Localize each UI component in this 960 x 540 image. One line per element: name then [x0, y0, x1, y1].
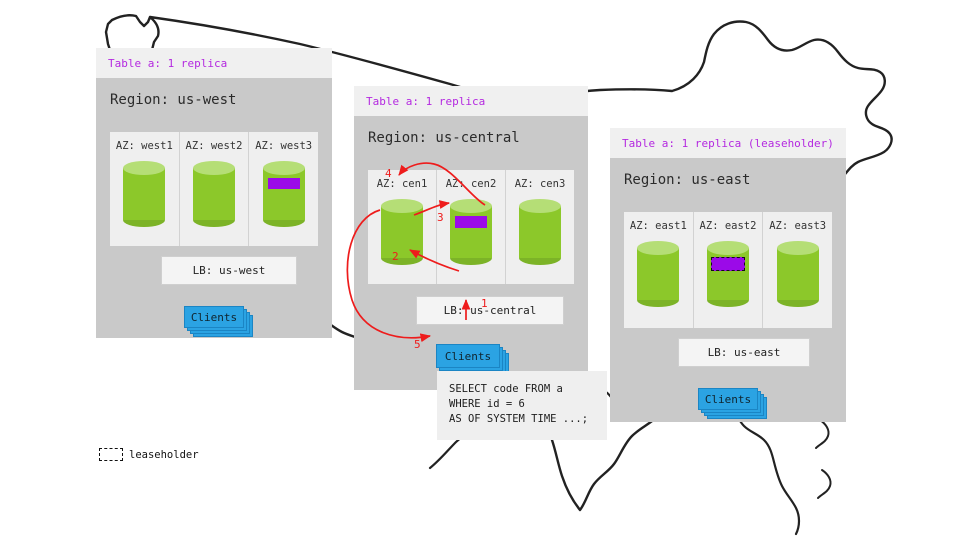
clients-stack-us-east[interactable]: Clients: [698, 388, 764, 418]
step-number-5: 5: [414, 338, 421, 351]
az-strip-us-central: AZ: cen1 AZ: cen2: [368, 170, 574, 284]
lb-box-us-east[interactable]: LB: us-east: [678, 338, 810, 367]
lb-box-us-central[interactable]: LB: us-central: [416, 296, 564, 325]
az-strip-us-west: AZ: west1 AZ: west2 AZ: [110, 132, 318, 246]
region-panel-us-central[interactable]: Table a: 1 replica Region: us-central AZ…: [354, 86, 588, 390]
cylinder-top: [123, 161, 165, 175]
cylinder-top: [193, 161, 235, 175]
cylinder-west2: [193, 161, 235, 227]
cylinder-top: [777, 241, 819, 255]
az-cell-east1[interactable]: AZ: east1: [624, 212, 694, 328]
az-cell-cen3[interactable]: AZ: cen3: [506, 170, 574, 284]
az-label-east2: AZ: east2: [700, 220, 757, 232]
az-cell-west3[interactable]: AZ: west3: [249, 132, 318, 246]
az-cell-east2[interactable]: AZ: east2: [694, 212, 764, 328]
az-cell-west1[interactable]: AZ: west1: [110, 132, 180, 246]
step-number-2: 2: [392, 250, 399, 263]
cylinder-cen1: [381, 199, 423, 265]
cylinder-top: [707, 241, 749, 255]
az-label-west1: AZ: west1: [116, 140, 173, 152]
step-number-1: 1: [481, 297, 488, 310]
clients-label-us-west[interactable]: Clients: [184, 306, 244, 328]
region-title-us-east: Region: us-east: [624, 172, 834, 188]
az-label-cen2: AZ: cen2: [446, 178, 497, 190]
cylinder-body: [381, 206, 423, 258]
panel-header-us-west: Table a: 1 replica: [96, 48, 332, 78]
cylinder-body: [637, 248, 679, 300]
region-title-us-central: Region: us-central: [368, 130, 576, 146]
cylinder-body: [450, 206, 492, 258]
lb-box-us-west[interactable]: LB: us-west: [161, 256, 297, 285]
dashed-rect-icon: [99, 448, 123, 461]
clients-label-us-central[interactable]: Clients: [436, 344, 500, 368]
cylinder-body: [193, 168, 235, 220]
az-label-west2: AZ: west2: [186, 140, 243, 152]
replica-marker-cen2: [455, 216, 487, 228]
az-cell-cen2[interactable]: AZ: cen2: [437, 170, 506, 284]
cylinder-body: [777, 248, 819, 300]
cylinder-east2: [707, 241, 749, 307]
cylinder-top: [637, 241, 679, 255]
step-number-4: 4: [385, 167, 392, 180]
panel-header-us-central: Table a: 1 replica: [354, 86, 588, 116]
cylinder-top: [263, 161, 305, 175]
diagram-canvas: Table a: 1 replica Region: us-west AZ: w…: [0, 0, 960, 540]
cylinder-top: [519, 199, 561, 213]
region-title-us-west: Region: us-west: [110, 92, 320, 108]
panel-body-us-west: Region: us-west AZ: west1 AZ: west2: [96, 78, 332, 338]
clients-stack-us-west[interactable]: Clients: [184, 306, 250, 336]
legend-label: leaseholder: [129, 449, 199, 461]
cylinder-east3: [777, 241, 819, 307]
cylinder-body: [519, 206, 561, 258]
az-label-east3: AZ: east3: [769, 220, 826, 232]
replica-marker-east2-leaseholder: [711, 257, 745, 271]
cylinder-body: [123, 168, 165, 220]
replica-marker-west3: [268, 178, 300, 189]
panel-body-us-central: Region: us-central AZ: cen1 AZ: cen2: [354, 116, 588, 390]
cylinder-cen2: [450, 199, 492, 265]
legend-leaseholder: leaseholder: [99, 448, 199, 461]
clients-label-us-east[interactable]: Clients: [698, 388, 758, 410]
cylinder-top: [450, 199, 492, 213]
cylinder-cen3: [519, 199, 561, 265]
step-number-3: 3: [437, 211, 444, 224]
az-cell-west2[interactable]: AZ: west2: [180, 132, 250, 246]
cylinder-body: [263, 168, 305, 220]
region-panel-us-west[interactable]: Table a: 1 replica Region: us-west AZ: w…: [96, 48, 332, 338]
sql-query-box: SELECT code FROM a WHERE id = 6 AS OF SY…: [437, 371, 607, 440]
az-cell-east3[interactable]: AZ: east3: [763, 212, 832, 328]
panel-header-us-east: Table a: 1 replica (leaseholder): [610, 128, 846, 158]
az-label-east1: AZ: east1: [630, 220, 687, 232]
az-label-west3: AZ: west3: [255, 140, 312, 152]
cylinder-body: [707, 248, 749, 300]
cylinder-west1: [123, 161, 165, 227]
az-label-cen3: AZ: cen3: [515, 178, 566, 190]
panel-body-us-east: Region: us-east AZ: east1 AZ: east2: [610, 158, 846, 422]
az-cell-cen1[interactable]: AZ: cen1: [368, 170, 437, 284]
cylinder-east1: [637, 241, 679, 307]
cylinder-top: [381, 199, 423, 213]
cylinder-west3: [263, 161, 305, 227]
region-panel-us-east[interactable]: Table a: 1 replica (leaseholder) Region:…: [610, 128, 846, 422]
az-strip-us-east: AZ: east1 AZ: east2: [624, 212, 832, 328]
